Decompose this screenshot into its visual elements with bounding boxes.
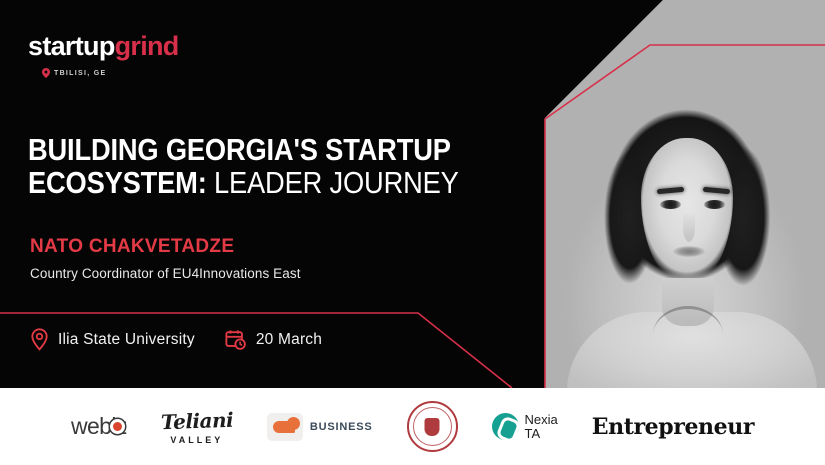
event-venue: Ilia State University <box>30 328 195 351</box>
eye-left <box>660 200 681 209</box>
sponsor-logo-nexia-ta: Nexia TA <box>492 413 558 440</box>
event-banner: startupgrind TBILISI, GE BUILDING GEORGI… <box>0 0 825 465</box>
eye-right <box>704 200 725 209</box>
headline-line-1: BUILDING GEORGIA'S STARTUP <box>28 133 406 166</box>
nexia-mark-icon <box>492 413 519 440</box>
brand-logo-text: startupgrind <box>28 33 179 60</box>
map-pin-icon <box>30 328 49 351</box>
lion-icon <box>267 413 303 441</box>
brand-name-red: grind <box>115 31 179 61</box>
sponsor-entrepreneur-label: Entrepreneur <box>592 414 754 440</box>
calendar-clock-icon <box>225 329 247 351</box>
speaker-photo <box>545 0 825 388</box>
webiz-dot-icon <box>113 422 122 431</box>
sponsor-bar: webiz Teliani VALLEY BUSINESS Nexia TA E… <box>0 388 825 465</box>
nose-shape <box>683 212 695 242</box>
event-date-label: 20 March <box>256 331 322 349</box>
lips-shape <box>673 246 705 257</box>
sponsor-nexia-label: Nexia <box>525 413 558 427</box>
sponsor-teliani-sub: VALLEY <box>170 435 223 445</box>
university-seal-icon <box>407 401 458 452</box>
event-date: 20 March <box>225 329 322 351</box>
sponsor-logo-university-seal <box>407 401 458 452</box>
map-pin-icon <box>42 68 50 78</box>
headline-line-2: ECOSYSTEM: LEADER JOURNEY <box>28 166 406 199</box>
sponsor-logo-teliani-valley: Teliani VALLEY <box>161 409 233 445</box>
sponsor-nexia-sub: TA <box>525 427 558 441</box>
portrait-image <box>545 0 825 388</box>
brand-logo: startupgrind TBILISI, GE <box>28 33 179 78</box>
sponsor-nexia-text: Nexia TA <box>525 413 558 440</box>
headline-line-2-light: LEADER JOURNEY <box>214 165 459 200</box>
sponsor-logo-entrepreneur: Entrepreneur <box>592 414 754 440</box>
sponsor-logo-webiz: webiz <box>71 413 127 440</box>
sponsor-business-label: BUSINESS <box>310 421 373 433</box>
event-meta: Ilia State University 20 March <box>30 328 322 351</box>
speaker-block: NATO CHAKVETADZE Country Coordinator of … <box>30 236 301 281</box>
sponsor-logo-business: BUSINESS <box>267 413 373 441</box>
speaker-name: NATO CHAKVETADZE <box>30 236 301 258</box>
brand-location: TBILISI, GE <box>42 68 179 78</box>
page-title: BUILDING GEORGIA'S STARTUP ECOSYSTEM: LE… <box>28 133 458 200</box>
speaker-role: Country Coordinator of EU4Innovations Ea… <box>30 266 301 281</box>
brand-location-label: TBILISI, GE <box>54 70 106 77</box>
brand-name-white: startup <box>28 31 115 61</box>
sponsor-teliani-label: Teliani <box>160 407 233 434</box>
event-venue-label: Ilia State University <box>58 331 195 349</box>
headline-line-2-bold: ECOSYSTEM: <box>28 165 207 200</box>
